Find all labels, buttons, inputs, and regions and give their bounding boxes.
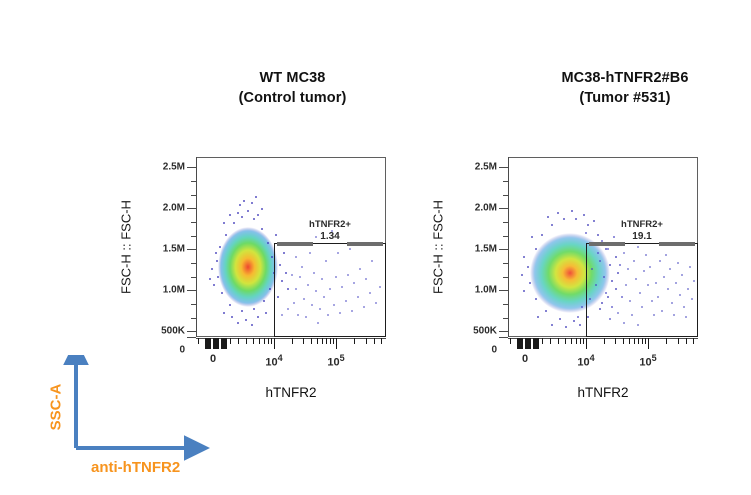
x-tick-label: 104 xyxy=(577,353,594,369)
gate-handle-right-segment[interactable] xyxy=(659,242,695,246)
y-tick-major xyxy=(499,167,508,168)
panel-title-left: WT MC38 (Control tumor) xyxy=(185,68,400,108)
panel-title-left-line1: WT MC38 xyxy=(260,70,326,86)
x-tick-label: 0 xyxy=(522,353,528,365)
x-tick-label-exponent: 4 xyxy=(590,353,595,363)
x-tick-minor xyxy=(615,338,616,344)
gate-handle-right-segment[interactable] xyxy=(347,242,383,246)
x-tick-minor xyxy=(576,338,577,344)
y-tick-major xyxy=(187,208,196,209)
x-tick-minor xyxy=(268,338,269,344)
y-tick-label: 2.0M xyxy=(163,203,185,214)
x-tick-minor xyxy=(259,338,260,344)
gate-value-right: 19.1 xyxy=(632,231,651,242)
panel-title-right-line1: MC38-hTNFR2#B6 xyxy=(561,70,688,86)
x-tick-label-exponent: 4 xyxy=(278,353,283,363)
gate-box-left[interactable] xyxy=(274,243,386,337)
x-tick-minor xyxy=(571,338,572,344)
y-tick-label: 500K xyxy=(473,326,497,337)
x-tick-label-mantissa: 10 xyxy=(577,357,589,369)
annotation-label-anti-htnfr2: anti-hTNFR2 xyxy=(91,459,180,476)
x-tick-minor xyxy=(604,338,605,344)
x-tick-minor xyxy=(354,338,355,344)
x-tick-minor xyxy=(253,338,254,344)
x-tick-minor xyxy=(374,338,375,344)
figure-canvas: WT MC38 (Control tumor) MC38-hTNFR2#B6 (… xyxy=(0,0,751,495)
x-tick-zero-band xyxy=(517,338,523,349)
x-tick-minor xyxy=(542,338,543,344)
y-tick-major xyxy=(187,249,196,250)
y-tick-label: 2.5M xyxy=(475,162,497,173)
x-tick-label-mantissa: 10 xyxy=(639,357,651,369)
plot-right: 2.5M 2.0M 1.5M 1.0M 500K 0 FSC-H :: FSC-… xyxy=(508,157,698,337)
x-tick-minor xyxy=(550,338,551,344)
x-tick-minor xyxy=(271,338,272,344)
x-tick-zero-band xyxy=(221,338,227,349)
x-tick-minor xyxy=(583,338,584,344)
y-tick-major xyxy=(187,167,196,168)
x-tick-minor xyxy=(623,338,624,344)
x-tick-minor xyxy=(366,338,367,344)
y-tick-label: 0 xyxy=(179,345,185,356)
y-tick-major xyxy=(499,290,508,291)
y-tick-major xyxy=(187,290,196,291)
y-tick-major xyxy=(499,208,508,209)
x-tick-minor xyxy=(686,338,687,344)
x-tick-minor xyxy=(264,338,265,344)
y-tick-label: 1.0M xyxy=(163,285,185,296)
panel-title-right-line2: (Tumor #531) xyxy=(500,88,750,108)
y-tick-label: 2.0M xyxy=(475,203,497,214)
gate-value-left: 1.34 xyxy=(320,231,339,242)
x-tick-minor xyxy=(292,338,293,344)
y-tick-major xyxy=(499,249,508,250)
annotation-label-ssc-a: SSC-A xyxy=(48,384,65,431)
x-tick-minor xyxy=(642,338,643,344)
panel-title-right: MC38-hTNFR2#B6 (Tumor #531) xyxy=(500,68,750,108)
x-tick-minor xyxy=(333,338,334,344)
y-axis-title-right: FSC-H :: FSC-H xyxy=(431,200,446,294)
y-tick-label: 500K xyxy=(161,326,185,337)
x-tick-minor xyxy=(510,338,511,344)
x-tick-label-exponent: 5 xyxy=(652,353,657,363)
y-tick-label: 1.5M xyxy=(475,244,497,255)
x-tick-label-mantissa: 10 xyxy=(265,357,277,369)
x-axis-title-right: hTNFR2 xyxy=(577,385,628,400)
x-tick-major xyxy=(274,338,275,349)
y-tick-label: 1.5M xyxy=(163,244,185,255)
gate-handle-left-segment[interactable] xyxy=(277,242,313,246)
x-tick-minor xyxy=(693,338,694,344)
x-tick-minor xyxy=(198,338,199,344)
x-tick-minor xyxy=(638,338,639,344)
x-tick-minor xyxy=(326,338,327,344)
x-tick-minor xyxy=(322,338,323,344)
x-tick-minor xyxy=(565,338,566,344)
y-tick-label: 1.0M xyxy=(475,285,497,296)
x-tick-zero-band xyxy=(533,338,539,349)
x-tick-minor xyxy=(381,338,382,344)
x-tick-minor xyxy=(678,338,679,344)
gate-handle-left-segment[interactable] xyxy=(589,242,625,246)
plot-left: 2.5M 2.0M 1.5M 1.0M 500K 0 FSC-H :: FSC-… xyxy=(196,157,386,337)
y-axis-title-left: FSC-H :: FSC-H xyxy=(119,200,134,294)
x-tick-zero-band xyxy=(205,338,211,349)
x-tick-minor xyxy=(629,338,630,344)
x-tick-minor xyxy=(311,338,312,344)
gate-label-left: hTNFR2+ xyxy=(309,219,351,230)
x-tick-zero-band xyxy=(213,338,219,349)
x-tick-label-exponent: 5 xyxy=(340,353,345,363)
x-axis-title-left: hTNFR2 xyxy=(265,385,316,400)
y-tick-major xyxy=(499,337,508,338)
x-tick-label: 105 xyxy=(639,353,656,369)
x-tick-label-mantissa: 10 xyxy=(327,357,339,369)
x-tick-label: 104 xyxy=(265,353,282,369)
x-tick-minor xyxy=(666,338,667,344)
x-tick-minor xyxy=(230,338,231,344)
x-tick-major xyxy=(648,338,649,349)
x-tick-minor xyxy=(634,338,635,344)
y-tick-label: 0 xyxy=(491,345,497,356)
x-tick-label: 105 xyxy=(327,353,344,369)
x-tick-minor xyxy=(238,338,239,344)
panel-title-left-line2: (Control tumor) xyxy=(185,88,400,108)
x-tick-zero-band xyxy=(525,338,531,349)
x-tick-minor xyxy=(317,338,318,344)
gate-box-right[interactable] xyxy=(586,243,698,337)
gate-label-right: hTNFR2+ xyxy=(621,219,663,230)
y-tick-major xyxy=(187,337,196,338)
x-tick-minor xyxy=(645,338,646,344)
annotation-axes: SSC-A anti-hTNFR2 xyxy=(40,355,240,480)
y-tick-major xyxy=(499,331,508,332)
x-tick-major xyxy=(586,338,587,349)
x-tick-minor xyxy=(558,338,559,344)
x-tick-minor xyxy=(330,338,331,344)
x-tick-major xyxy=(336,338,337,349)
y-tick-label: 2.5M xyxy=(163,162,185,173)
x-tick-minor xyxy=(303,338,304,344)
x-tick-minor xyxy=(246,338,247,344)
y-tick-major xyxy=(187,331,196,332)
x-tick-minor xyxy=(580,338,581,344)
